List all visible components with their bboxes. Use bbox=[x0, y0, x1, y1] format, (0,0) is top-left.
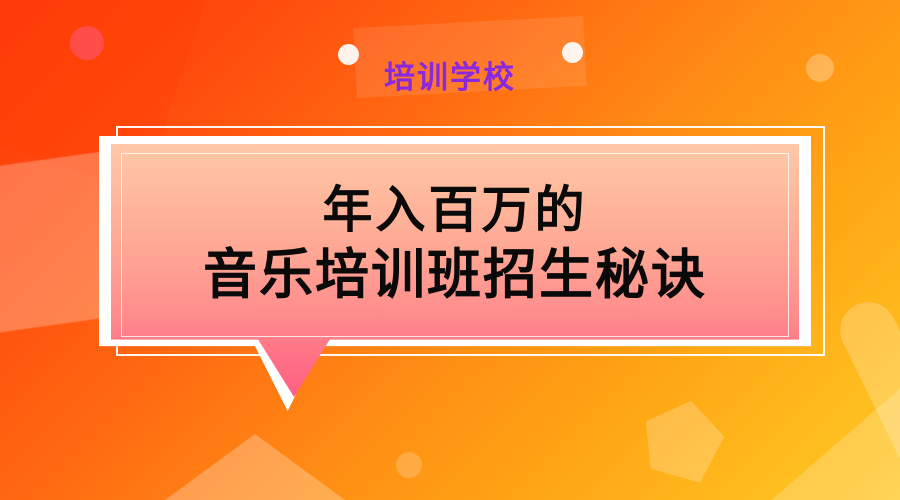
headline-line-1: 年入百万的 bbox=[323, 181, 588, 240]
poster-canvas: 培训学校 年入百万的 音乐培训班招生秘诀 bbox=[0, 0, 900, 500]
poster-subtitle: 培训学校 bbox=[0, 52, 900, 97]
capsule-decoration-right bbox=[831, 293, 900, 479]
headline-block: 年入百万的 音乐培训班招生秘诀 bbox=[111, 144, 799, 344]
circle-decoration-bottom bbox=[396, 452, 422, 478]
headline-line-2: 音乐培训班招生秘诀 bbox=[203, 244, 707, 308]
triangle-decoration-bottom bbox=[165, 434, 345, 500]
quadrilateral-decoration-left bbox=[0, 151, 110, 338]
headline-speech-bubble: 年入百万的 音乐培训班招生秘诀 bbox=[99, 136, 811, 411]
